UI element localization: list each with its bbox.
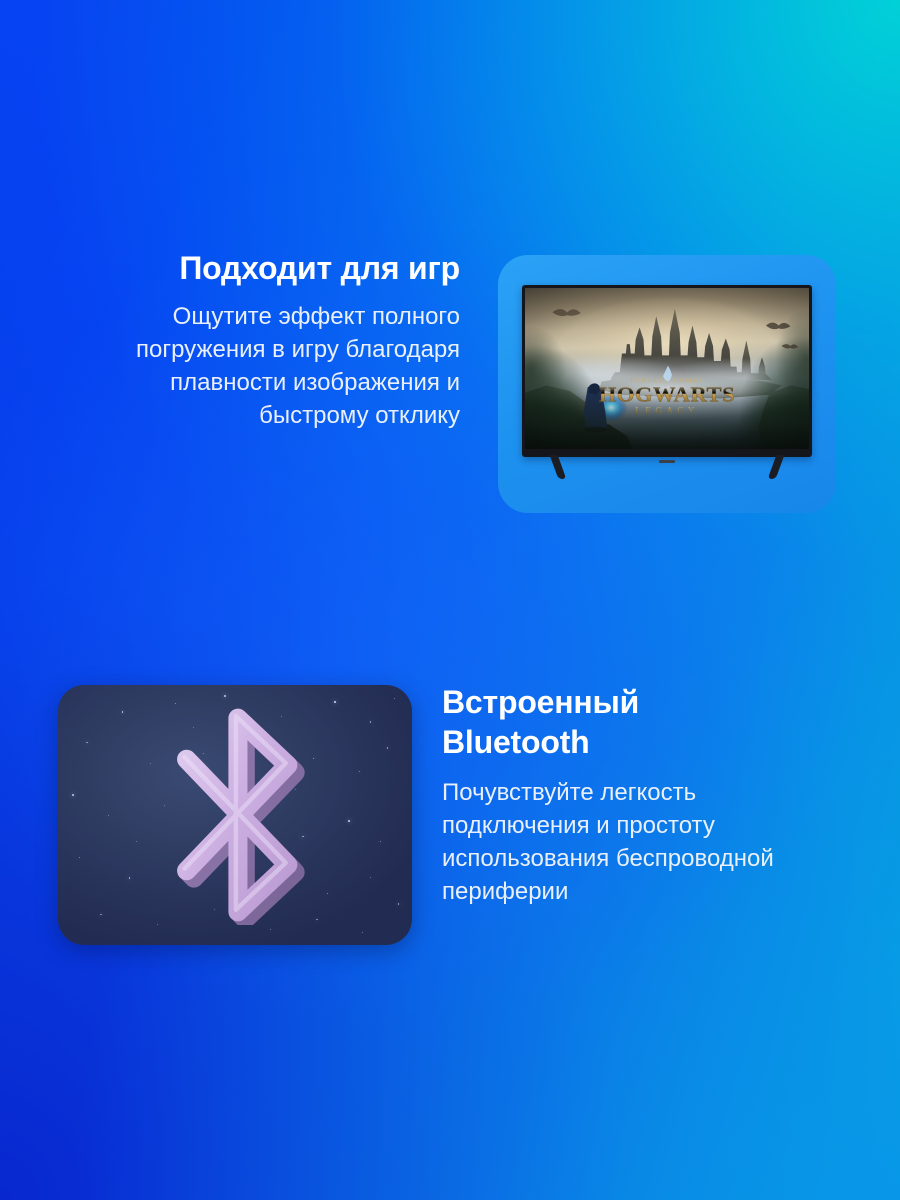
gaming-body-text: Ощутите эффект полного погружения в игру… [90, 300, 460, 432]
tv-product-card: PORTKEY GAMES HOGWARTS LEGACY [498, 255, 836, 513]
bluetooth-icon-card [58, 685, 412, 945]
tv-brand-mark [659, 460, 675, 463]
bluetooth-heading-line1: Встроенный [442, 684, 639, 720]
game-art-vignette [525, 288, 809, 449]
tv-leg-left [550, 455, 567, 479]
bluetooth-icon [140, 705, 330, 925]
tv-leg-right [768, 455, 785, 479]
bluetooth-feature-text: Встроенный Bluetooth Почувствуйте легкос… [442, 682, 814, 908]
tv-screen: PORTKEY GAMES HOGWARTS LEGACY [525, 288, 809, 449]
tv-unit: PORTKEY GAMES HOGWARTS LEGACY [522, 285, 812, 457]
gaming-feature-text: Подходит для игр Ощутите эффект полного … [90, 248, 460, 432]
gaming-heading: Подходит для игр [90, 248, 460, 288]
bluetooth-body-text: Почувствуйте легкость подключения и прос… [442, 776, 814, 908]
background-gradient [0, 0, 900, 1200]
tv-bezel: PORTKEY GAMES HOGWARTS LEGACY [522, 285, 812, 457]
background-center-glow [0, 0, 900, 1200]
bluetooth-heading: Встроенный Bluetooth [442, 682, 814, 762]
bluetooth-heading-line2: Bluetooth [442, 724, 590, 760]
